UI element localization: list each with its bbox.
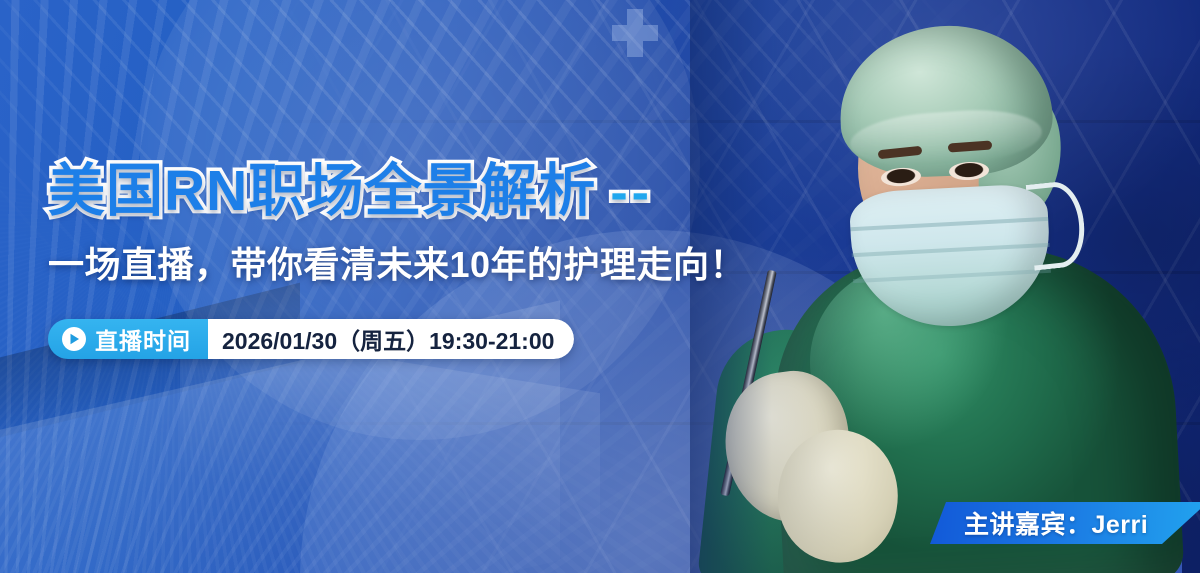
live-time-label: 直播时间 <box>95 322 191 356</box>
nurse-photo <box>690 0 1200 573</box>
speaker-badge: 主讲嘉宾：Jerri <box>930 502 1200 544</box>
live-time-badge[interactable]: 直播时间 2026/01/30（周五）19:30-21:00 <box>48 319 574 359</box>
medical-cross-icon <box>612 9 658 57</box>
live-time-value-group: 2026/01/30（周五）19:30-21:00 <box>208 319 574 359</box>
play-circle-icon <box>62 327 86 351</box>
speaker-name: 主讲嘉宾：Jerri <box>964 505 1148 541</box>
mask-pleats <box>850 217 1048 231</box>
live-time-value: 2026/01/30（周五）19:30-21:00 <box>222 322 554 356</box>
live-time-label-group: 直播时间 <box>48 319 208 359</box>
title-dashes: -- <box>610 164 653 222</box>
page-title: 美国RN职场全景解析-- <box>48 160 728 224</box>
title-block: 美国RN职场全景解析-- 一场直播，带你看清未来10年的护理走向！ <box>48 160 728 288</box>
main-title-text: 美国RN职场全景解析 <box>48 159 596 223</box>
live-webinar-banner: 美国RN职场全景解析-- 一场直播，带你看清未来10年的护理走向！ 直播时间 2… <box>0 0 1200 573</box>
page-subtitle: 一场直播，带你看清未来10年的护理走向！ <box>48 236 728 288</box>
mask-ear-strap <box>1026 179 1089 270</box>
